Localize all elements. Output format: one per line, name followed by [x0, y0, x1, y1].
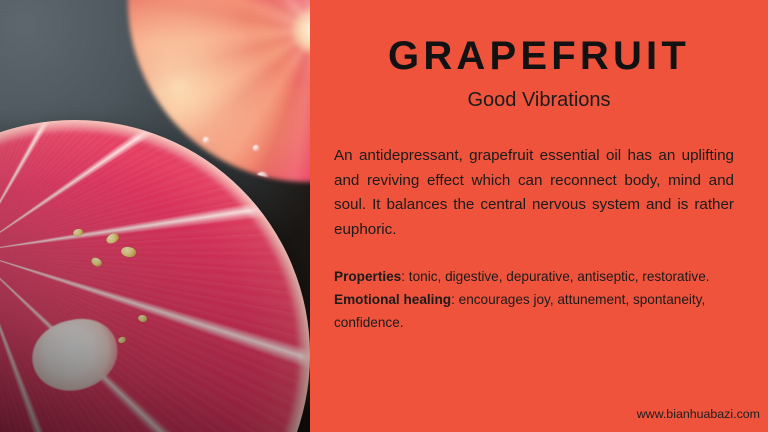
- photo-grain-overlay: [0, 0, 310, 432]
- grapefruit-photo-panel: [0, 0, 310, 432]
- fact-label: Properties: [334, 269, 401, 284]
- fact-row: Emotional healing: encourages joy, attun…: [334, 288, 734, 335]
- page-subtitle: Good Vibrations: [310, 90, 768, 110]
- body-text-block: An antidepressant, grapefruit essential …: [334, 144, 734, 335]
- fact-row: Properties: tonic, digestive, depurative…: [334, 265, 734, 288]
- facts-list: Properties: tonic, digestive, depurative…: [334, 265, 734, 335]
- page-title: GRAPEFRUIT: [310, 36, 768, 76]
- slide-canvas: GRAPEFRUIT Good Vibrations An antidepres…: [0, 0, 768, 432]
- intro-paragraph: An antidepressant, grapefruit essential …: [334, 144, 734, 243]
- website-url: www.bianhuabazi.com: [637, 408, 760, 420]
- fact-text: : tonic, digestive, depurative, antisept…: [401, 269, 709, 284]
- fact-label: Emotional healing: [334, 292, 451, 307]
- content-panel: GRAPEFRUIT Good Vibrations An antidepres…: [310, 0, 768, 432]
